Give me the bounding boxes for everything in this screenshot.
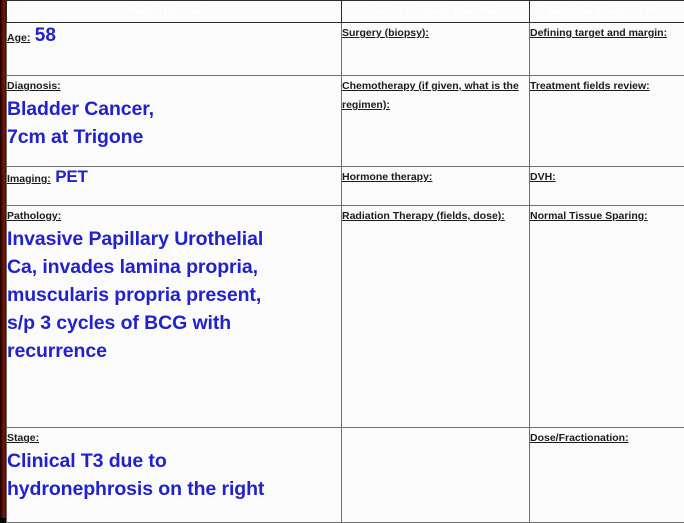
column-header-patient-information: Patient Information xyxy=(7,1,342,23)
column-header-label: Radiation Treatment Plan xyxy=(532,1,682,22)
cell-patient-stage[interactable]: Stage: Clinical T3 due to hydronephrosis… xyxy=(7,428,342,523)
field-value-diagnosis-line-2: 7cm at Trigone xyxy=(7,124,341,151)
column-header-label: Overall Oncology Mgmt Plan xyxy=(344,1,527,22)
cell-radiation-normal-tissue-sparing[interactable]: Normal Tissue Sparing: xyxy=(530,206,684,428)
field-value-pathology-line-4: s/p 3 cycles of BCG with xyxy=(7,310,341,337)
table-header-row: Patient Information Overall Oncology Mgm… xyxy=(7,1,684,23)
column-header-radiation-treatment-plan: Radiation Treatment Plan xyxy=(530,1,684,23)
field-label-pathology: Pathology: xyxy=(7,210,61,222)
field-value-stage-line-2: hydronephrosis on the right xyxy=(7,476,341,503)
cell-patient-age[interactable]: Age: 58 xyxy=(7,23,342,76)
cell-patient-diagnosis[interactable]: Diagnosis: Bladder Cancer, 7cm at Trigon… xyxy=(7,76,342,167)
field-value-pathology-line-5: recurrence xyxy=(7,338,341,365)
cell-oncology-surgery[interactable]: Surgery (biopsy): xyxy=(342,23,530,76)
field-value-diagnosis-line-1: Bladder Cancer, xyxy=(7,96,341,123)
field-label-treatment-fields-review: Treatment fields review: xyxy=(530,80,650,92)
field-label-surgery: Surgery (biopsy): xyxy=(342,27,429,39)
field-label-chemotherapy: Chemotherapy (if given, what is the regi… xyxy=(342,80,519,111)
field-label-radiation-therapy: Radiation Therapy (fields, dose): xyxy=(342,210,505,222)
field-label-dvh: DVH: xyxy=(530,171,556,183)
field-value-age: 58 xyxy=(35,25,56,46)
field-label-defining-target-and-margin: Defining target and margin: xyxy=(530,27,667,39)
cell-radiation-defining-target[interactable]: Defining target and margin: xyxy=(530,23,684,76)
field-value-imaging: PET xyxy=(55,167,87,186)
cell-oncology-empty[interactable] xyxy=(342,428,530,523)
table-row-imaging: Imaging: PET Hormone therapy: DVH: xyxy=(7,167,684,206)
clinical-case-table: Patient Information Overall Oncology Mgm… xyxy=(6,0,684,523)
field-label-diagnosis: Diagnosis: xyxy=(7,80,61,92)
cell-radiation-dvh[interactable]: DVH: xyxy=(530,167,684,206)
slide-canvas: Patient Information Overall Oncology Mgm… xyxy=(0,0,684,518)
table-row-pathology: Pathology: Invasive Papillary Urothelial… xyxy=(7,206,684,428)
column-header-overall-oncology-mgmt-plan: Overall Oncology Mgmt Plan xyxy=(342,1,530,23)
field-value-pathology-line-2: Ca, invades lamina propria, xyxy=(7,254,341,281)
column-header-label: Patient Information xyxy=(9,1,339,22)
table-row-diagnosis: Diagnosis: Bladder Cancer, 7cm at Trigon… xyxy=(7,76,684,167)
cell-oncology-radiation-therapy[interactable]: Radiation Therapy (fields, dose): xyxy=(342,206,530,428)
field-label-imaging: Imaging: xyxy=(7,173,51,185)
cell-patient-pathology[interactable]: Pathology: Invasive Papillary Urothelial… xyxy=(7,206,342,428)
cell-oncology-hormone-therapy[interactable]: Hormone therapy: xyxy=(342,167,530,206)
field-value-stage-line-1: Clinical T3 due to xyxy=(7,448,341,475)
cell-radiation-treatment-fields-review[interactable]: Treatment fields review: xyxy=(530,76,684,167)
field-value-pathology-line-1: Invasive Papillary Urothelial xyxy=(7,226,341,253)
cell-oncology-chemotherapy[interactable]: Chemotherapy (if given, what is the regi… xyxy=(342,76,530,167)
table-row-stage: Stage: Clinical T3 due to hydronephrosis… xyxy=(7,428,684,523)
field-label-normal-tissue-sparing: Normal Tissue Sparing: xyxy=(530,210,648,222)
table-row-age: Age: 58 Surgery (biopsy): Defining targe… xyxy=(7,23,684,76)
field-label-hormone-therapy: Hormone therapy: xyxy=(342,171,432,183)
field-label-stage: Stage: xyxy=(7,432,39,444)
field-label-age: Age: xyxy=(7,32,30,44)
cell-patient-imaging[interactable]: Imaging: PET xyxy=(7,167,342,206)
cell-radiation-dose-fractionation[interactable]: Dose/Fractionation: xyxy=(530,428,684,523)
field-label-dose-fractionation: Dose/Fractionation: xyxy=(530,432,629,444)
field-value-pathology-line-3: muscularis propria present, xyxy=(7,282,341,309)
